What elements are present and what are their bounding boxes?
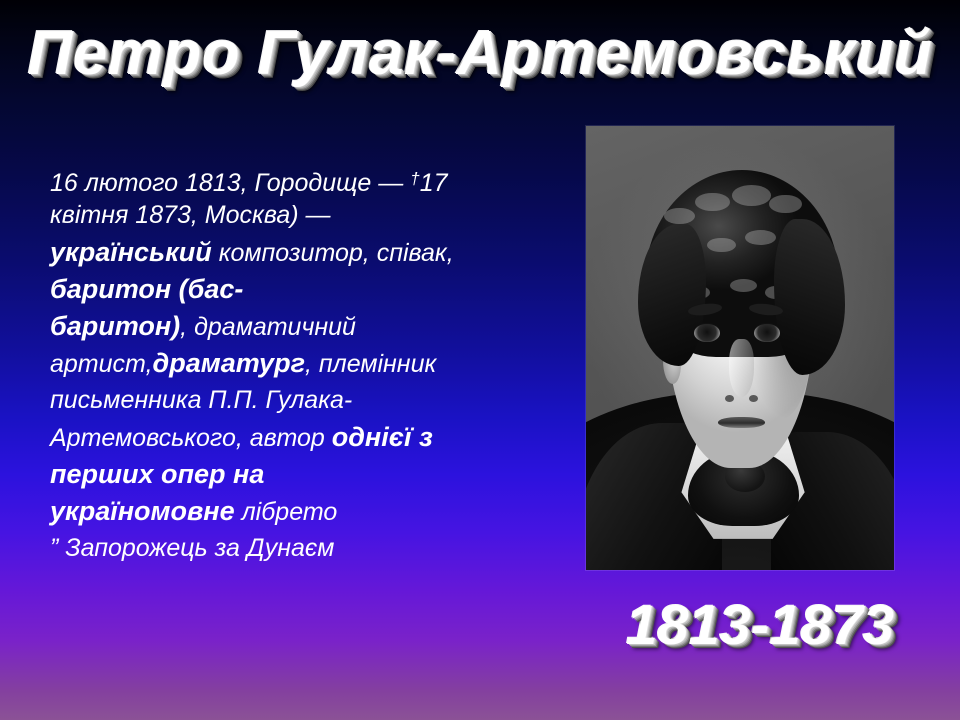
- biography-text-block: 16 лютого 1813, Городище — †17квітня 187…: [50, 160, 550, 567]
- years-bar: 1813-1873: [560, 592, 960, 657]
- biography-line: артист,драматург, племінник: [50, 345, 550, 382]
- biography-line: письменника П.П. Гулака-: [50, 382, 550, 419]
- biography-text-run: Артемовського, автор: [50, 424, 332, 452]
- portrait-mouth: [718, 417, 764, 429]
- biography-text-run: однієї з: [332, 422, 433, 452]
- portrait-nostril-left: [725, 395, 734, 402]
- biography-text-run: баритон (бас-: [50, 274, 243, 304]
- biography-text-run: драматург: [153, 348, 305, 378]
- biography-text-run: український: [50, 237, 212, 267]
- biography-line: український композитор, співак,: [50, 234, 550, 271]
- biography-text-run: , драматичний: [180, 313, 356, 341]
- portrait-hair-highlight: [730, 279, 757, 292]
- life-years-label: 1813-1873: [626, 592, 894, 657]
- biography-text-run: баритон): [50, 311, 180, 341]
- biography-text-run: артист,: [50, 350, 153, 378]
- portrait-hair-highlight: [707, 238, 736, 253]
- biography-line: 16 лютого 1813, Городище — †17: [50, 160, 550, 197]
- biography-text-run: †: [410, 169, 419, 188]
- presentation-slide: Петро Гулак-Артемовський 16 лютого 1813,…: [0, 0, 960, 720]
- biography-line: баритон), драматичний: [50, 308, 550, 345]
- biography-text-run: , племінник: [305, 350, 436, 378]
- portrait-image: [586, 126, 894, 570]
- biography-line: квітня 1873, Москва) —: [50, 197, 550, 234]
- biography-text-run: 16 лютого 1813, Городище —: [50, 169, 410, 197]
- biography-text-run: письменника П.П. Гулака-: [50, 386, 352, 414]
- biography-text-run: лібрето: [235, 498, 338, 526]
- portrait-eye-left: [694, 324, 720, 343]
- portrait-eye-right: [754, 324, 780, 343]
- page-title: Петро Гулак-Артемовський: [28, 18, 933, 89]
- portrait-hair-highlight: [695, 193, 730, 212]
- biography-text-run: квітня 1873, Москва) —: [50, 201, 331, 229]
- portrait-nose: [729, 339, 754, 397]
- biography-line: Артемовського, автор однієї з: [50, 419, 550, 456]
- title-bar: Петро Гулак-Артемовський: [0, 18, 960, 89]
- biography-line: ” Запорожець за Дунаєм: [50, 530, 550, 567]
- portrait-hair-highlight: [732, 185, 771, 206]
- biography-line: баритон (бас-: [50, 271, 550, 308]
- portrait-hair-highlight: [745, 230, 776, 245]
- biography-text-run: ” Запорожець за Дунаєм: [50, 534, 334, 562]
- biography-line: перших опер на: [50, 456, 550, 493]
- portrait-hair-highlight: [769, 195, 802, 214]
- biography-text-run: україномовне: [50, 496, 235, 526]
- biography-text-run: 17: [420, 169, 448, 197]
- portrait-hair-highlight: [664, 208, 695, 225]
- biography-text-run: композитор, співак,: [212, 239, 454, 267]
- biography-line: україномовне лібрето: [50, 493, 550, 530]
- portrait-nostril-right: [749, 395, 758, 402]
- biography-text-run: перших опер на: [50, 459, 264, 489]
